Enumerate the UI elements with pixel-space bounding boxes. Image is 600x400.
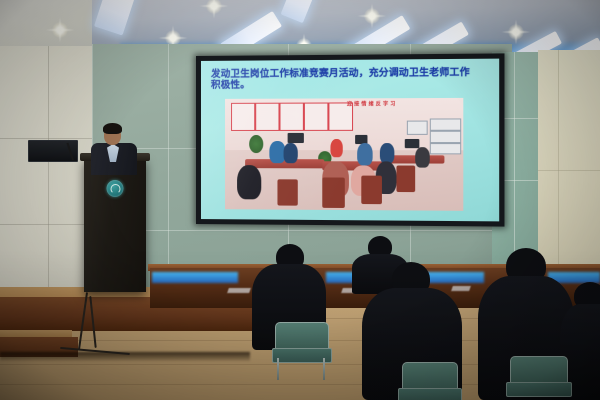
photo-attendee-6 bbox=[415, 147, 430, 167]
slide-title-line-2: 积极性。 bbox=[211, 78, 491, 93]
chair-leg-left bbox=[277, 358, 279, 380]
podium bbox=[84, 158, 146, 292]
slide-photograph: 迎接情绪反字习 bbox=[225, 98, 463, 211]
photo-poster-right-2 bbox=[430, 118, 461, 130]
chair-seat bbox=[398, 388, 462, 400]
photo-red-banner: 迎接情绪反字习 bbox=[347, 100, 419, 110]
chair-center[interactable] bbox=[398, 362, 460, 400]
photo-chair-4 bbox=[277, 179, 297, 205]
photo-poster-right-3 bbox=[430, 131, 461, 143]
photo-poster-right-4 bbox=[430, 143, 461, 154]
photo-noticeboard-3 bbox=[279, 103, 303, 131]
wall-left-panel bbox=[0, 46, 96, 301]
photo-attendee-3 bbox=[330, 139, 342, 157]
ceiling-linear-light-3 bbox=[281, 0, 316, 23]
photo-attendee-2 bbox=[284, 143, 298, 163]
photo-noticeboard-4 bbox=[304, 103, 329, 131]
chair-leg-right bbox=[323, 358, 325, 380]
ceiling-downlight-1 bbox=[52, 22, 68, 38]
ceiling-downlight-5 bbox=[364, 8, 380, 24]
photo-monitor-1 bbox=[288, 133, 304, 143]
ceiling-soffit bbox=[0, 0, 92, 50]
photo-chair-2 bbox=[361, 176, 382, 205]
photo-chair-1 bbox=[322, 177, 345, 208]
photo-attendee-5 bbox=[380, 143, 395, 163]
photo-noticeboard-2 bbox=[255, 103, 279, 131]
ceiling-downlight-7 bbox=[508, 24, 524, 40]
photo-attendee-4 bbox=[357, 143, 372, 165]
desk-led-strip-1 bbox=[152, 272, 238, 283]
photo-attendee-10 bbox=[237, 165, 261, 199]
glasses-icon bbox=[105, 132, 120, 136]
photo-poster-right-1 bbox=[407, 121, 428, 135]
photo-banner-text: 迎接情绪反字习 bbox=[347, 100, 419, 107]
chair-right[interactable] bbox=[506, 356, 570, 400]
speaker-presenter bbox=[88, 125, 140, 173]
ceiling-linear-light-1 bbox=[94, 0, 136, 36]
ceiling-downlight-3 bbox=[206, 0, 222, 14]
photo-chair-3 bbox=[396, 166, 415, 193]
photo-monitor-3 bbox=[405, 139, 420, 148]
photo-plant-1 bbox=[249, 135, 263, 153]
chair-seat bbox=[506, 382, 572, 397]
desk-paper-1 bbox=[227, 288, 251, 293]
projection-screen: 发动卫生岗位工作标准竞赛月活动，充分调动卫生老师工作 积极性。 迎接情绪反字习 bbox=[196, 53, 504, 226]
conference-hall-photo: 发动卫生岗位工作标准竞赛月活动，充分调动卫生老师工作 积极性。 迎接情绪反字习 bbox=[0, 0, 600, 400]
photo-noticeboard-1 bbox=[231, 103, 255, 131]
institution-emblem-icon bbox=[107, 180, 124, 197]
slide-surface: 发动卫生岗位工作标准竞赛月活动，充分调动卫生老师工作 积极性。 迎接情绪反字习 bbox=[201, 59, 499, 222]
empty-chair-left[interactable] bbox=[272, 322, 330, 382]
